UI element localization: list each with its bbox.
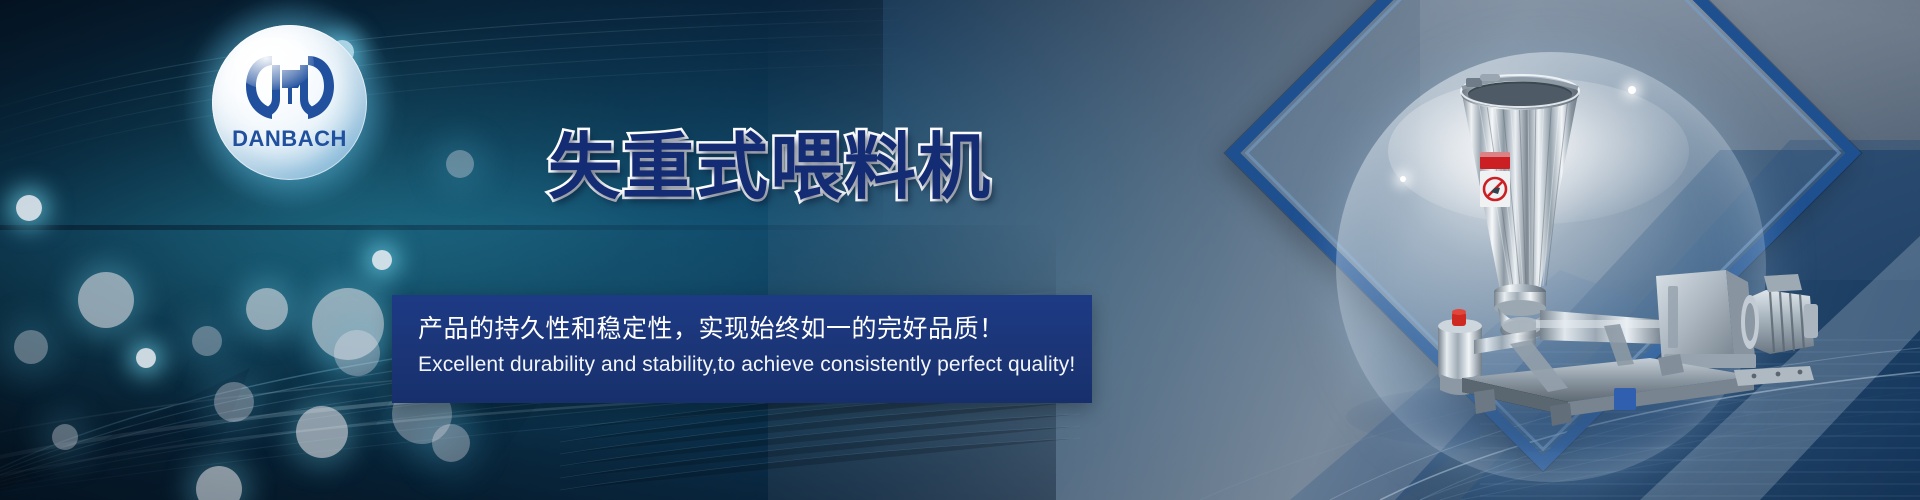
- vignette-overlay: [0, 0, 1920, 500]
- product-banner: DANBACH 失重式喂料机 产品的持久性和稳定性，实现始终如一的完好品质！ E…: [0, 0, 1920, 500]
